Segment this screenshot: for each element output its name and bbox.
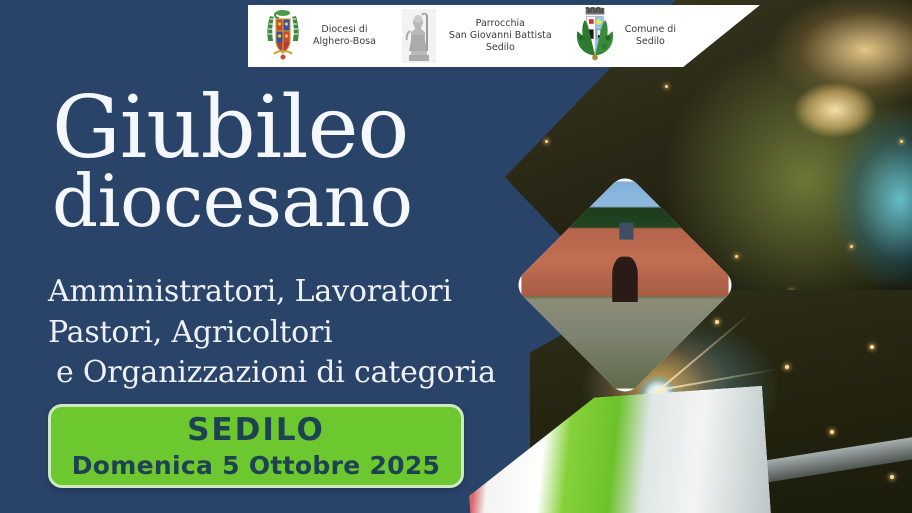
title-line-2: diocesano	[52, 164, 413, 240]
title-line-1: Giubileo	[52, 88, 413, 170]
saint-john-baptist-statue-icon	[396, 7, 442, 65]
poster-headline: Giubileo diocesano	[52, 88, 413, 239]
logo-parish: Parrocchia San Giovanni Battista Sedilo	[396, 7, 552, 65]
sponsors-banner: Diocesi di Alghero-Bosa Parrocchia San G…	[248, 5, 760, 67]
subtitle-line-1: Amministratori, Lavoratori	[48, 272, 496, 313]
subtitle-line-3: e Organizzazioni di categoria	[48, 353, 496, 394]
logo-municipality-caption: Comune di Sedilo	[625, 24, 676, 48]
badge-date: Domenica 5 Ottobre 2025	[72, 453, 440, 478]
poster-subtitle: Amministratori, Lavoratori Pastori, Agri…	[48, 272, 496, 394]
badge-city: SEDILO	[187, 415, 325, 446]
logo-diocese-caption: Diocesi di Alghero-Bosa	[313, 24, 376, 48]
logo-diocese: Diocesi di Alghero-Bosa	[260, 7, 376, 65]
event-poster: Diocesi di Alghero-Bosa Parrocchia San G…	[0, 0, 912, 513]
logo-municipality: Comune di Sedilo	[572, 7, 676, 65]
municipality-coat-of-arms-icon	[572, 7, 618, 65]
logo-parish-caption: Parrocchia San Giovanni Battista Sedilo	[449, 18, 552, 54]
subtitle-line-2: Pastori, Agricoltori	[48, 313, 496, 354]
diocese-coat-of-arms-icon	[260, 7, 306, 65]
date-badge: SEDILO Domenica 5 Ottobre 2025	[48, 404, 464, 488]
italian-flag-photo	[463, 386, 773, 513]
